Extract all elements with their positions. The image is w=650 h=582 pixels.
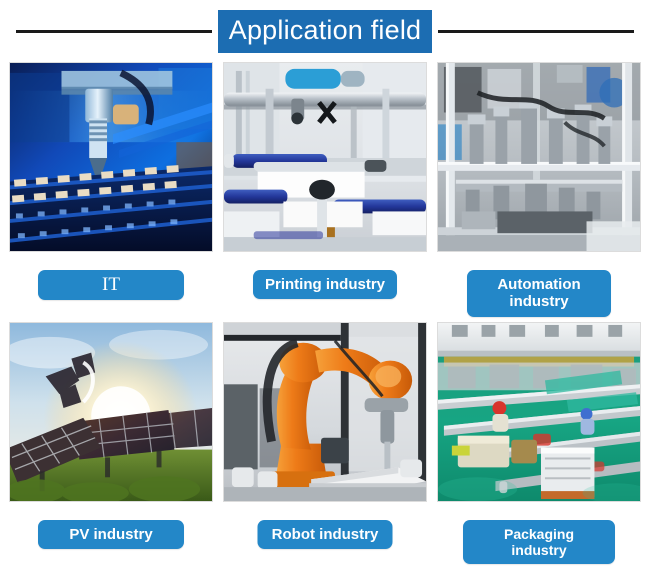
solar-panel-field-photo — [9, 322, 213, 502]
application-card-pv[interactable]: PV industry — [8, 322, 214, 580]
application-card-it[interactable]: IT — [8, 62, 214, 320]
grid-row-2: PV industry — [0, 322, 650, 582]
page-header: Application field — [0, 0, 650, 62]
application-card-caption[interactable]: Printing industry — [253, 270, 397, 299]
application-card-caption[interactable]: Automation industry — [467, 270, 611, 317]
application-card-robot[interactable]: Robot industry — [222, 322, 428, 580]
application-card-caption[interactable]: Packaging industry — [463, 520, 615, 564]
packaging-factory-line-photo — [437, 322, 641, 502]
header-rule-left — [16, 30, 212, 33]
pcb-pick-and-place-machine-photo — [9, 62, 213, 252]
application-card-packaging[interactable]: Packaging industry — [436, 322, 642, 580]
application-card-caption[interactable]: IT — [38, 270, 184, 300]
screen-printing-machine-photo — [223, 62, 427, 252]
application-card-caption[interactable]: PV industry — [38, 520, 184, 549]
application-card-caption[interactable]: Robot industry — [258, 520, 393, 549]
automation-assembly-cell-photo — [437, 62, 641, 252]
application-field-grid: IT — [0, 62, 650, 582]
industrial-robot-arm-photo — [223, 322, 427, 502]
page-title: Application field — [218, 10, 433, 53]
header-rule-right — [438, 30, 634, 33]
grid-row-1: IT — [0, 62, 650, 322]
application-card-automation[interactable]: Automation industry — [436, 62, 642, 320]
application-card-printing[interactable]: Printing industry — [222, 62, 428, 320]
